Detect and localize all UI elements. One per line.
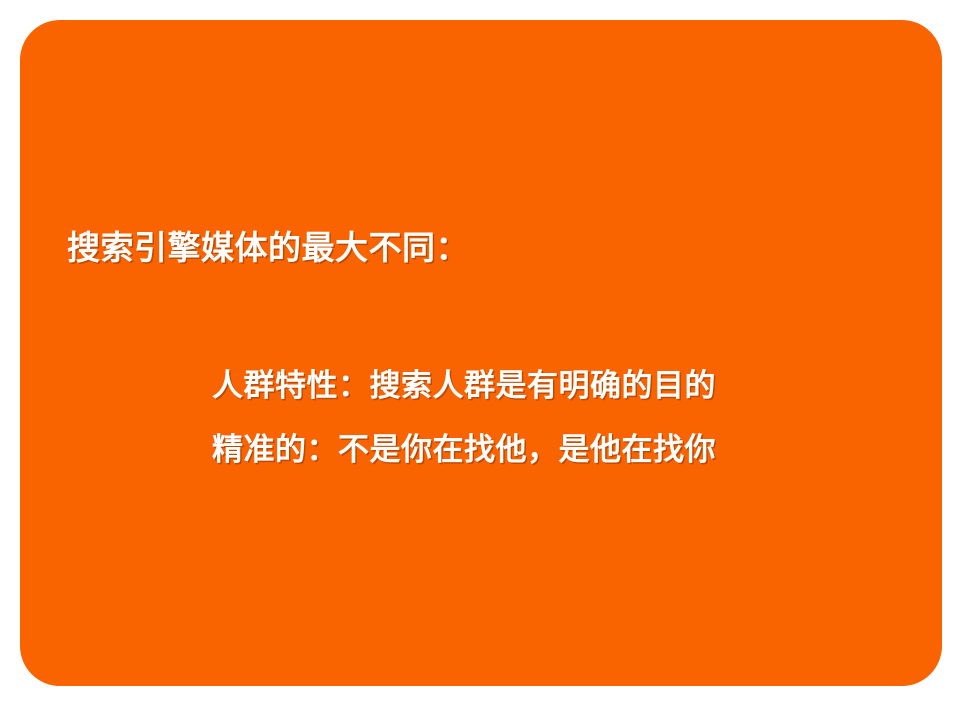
slide-body-line-1: 人群特性：搜索人群是有明确的目的 (212, 354, 716, 418)
slide-body-line-2: 精准的：不是你在找他，是他在找你 (212, 418, 716, 482)
slide-canvas: 搜索引擎媒体的最大不同： 人群特性：搜索人群是有明确的目的 精准的：不是你在找他… (0, 0, 960, 720)
slide-title: 搜索引擎媒体的最大不同： (67, 227, 469, 268)
orange-content-panel: 搜索引擎媒体的最大不同： 人群特性：搜索人群是有明确的目的 精准的：不是你在找他… (20, 20, 942, 686)
slide-body-list: 人群特性：搜索人群是有明确的目的 精准的：不是你在找他，是他在找你 (212, 354, 716, 482)
slide-text-block: 搜索引擎媒体的最大不同： 人群特性：搜索人群是有明确的目的 精准的：不是你在找他… (20, 20, 942, 686)
